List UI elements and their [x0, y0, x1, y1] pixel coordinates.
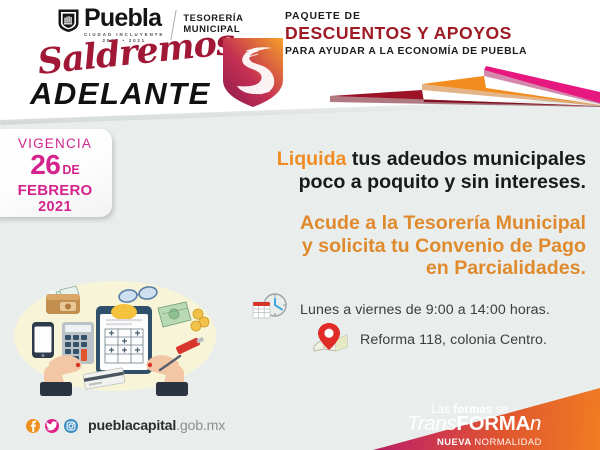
address-text: Reforma 118, colonia Centro.: [360, 332, 547, 348]
promo-line-3: PARA AYUDAR A LA ECONOMÍA DE PUEBLA: [285, 46, 527, 57]
twitter-icon[interactable]: [45, 419, 59, 433]
website-handle: pueblacapital: [88, 418, 176, 434]
validity-day: 26: [30, 149, 60, 180]
saldremos-s-shield-icon: [220, 36, 286, 110]
department-line-1: TESORERÍA: [183, 12, 243, 23]
poster-canvas: Puebla CIUDAD INCLUYENTE 2018 • 2021 TES…: [0, 0, 600, 450]
footer-social-bar: pueblacapital.gob.mx: [26, 418, 225, 434]
campaign-block-word: ADELANTE: [30, 76, 211, 112]
puebla-wordmark: Puebla: [84, 6, 164, 31]
address-row: Reforma 118, colonia Centro.: [310, 322, 547, 357]
message-p2-line2: y solicita tu Convenio de Pago: [302, 235, 586, 257]
band-line-2: TransFORMAn: [407, 413, 541, 435]
validity-card: VIGENCIA 26DE FEBRERO 2021: [0, 129, 112, 217]
message-paragraph-2: Acude a la Tesorería Municipal y solicit…: [166, 212, 586, 280]
validity-day-suffix: DE: [62, 163, 79, 177]
promo-line-2: DESCUENTOS Y APOYOS: [285, 23, 527, 44]
validity-month: FEBRERO: [0, 183, 112, 199]
validity-day-row: 26DE: [0, 152, 112, 183]
transforman-band-text: Las formas se TransFORMAn NUEVA NORMALID…: [345, 388, 600, 450]
band-line3-bold: NUEVA: [437, 436, 474, 447]
band-line2-thick: FORMA: [456, 412, 530, 435]
website-url[interactable]: pueblacapital.gob.mx: [88, 418, 225, 434]
facebook-icon[interactable]: [26, 419, 40, 433]
validity-year: 2021: [0, 199, 112, 215]
band-line2-tail: n: [530, 412, 541, 435]
website-domain: .gob.mx: [176, 418, 225, 434]
promo-headline: PAQUETE DE DESCUENTOS Y APOYOS PARA AYUD…: [285, 11, 527, 57]
map-pin-icon: [310, 322, 350, 357]
message-p1-line1-rest: tus adeudos municipales: [346, 148, 586, 170]
message-p2-line1: Acude a la Tesorería Municipal: [300, 212, 586, 234]
message-highlight-word: Liquida: [277, 148, 347, 170]
message-p2-line3: en Parcialidades.: [426, 257, 586, 279]
tri-ribbon-swoosh: [300, 62, 600, 108]
finance-desk-illustration: [8, 278, 223, 398]
campaign-lockup: Saldremos ADELANTE: [30, 42, 280, 110]
calendar-clock-icon: [250, 292, 290, 327]
hours-text: Lunes a viernes de 9:00 a 14:00 horas.: [300, 302, 550, 318]
instagram-icon[interactable]: [64, 419, 78, 433]
band-line2-thin: Trans: [407, 412, 456, 435]
puebla-shield-icon: [57, 8, 80, 33]
band-line3-light: NORMALIDAD: [474, 436, 542, 447]
band-line-3: NUEVA NORMALIDAD: [437, 436, 542, 447]
message-paragraph-1: Liquida tus adeudos municipales poco a p…: [166, 148, 586, 193]
promo-line-1: PAQUETE DE: [285, 11, 527, 22]
message-p1-line2: poco a poquito y sin intereses.: [299, 171, 586, 193]
